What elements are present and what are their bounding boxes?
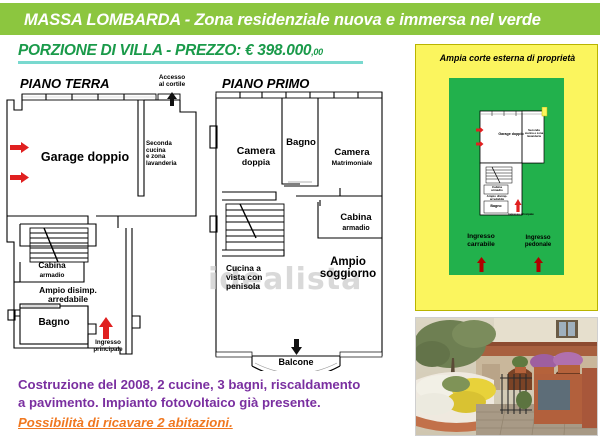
- room-label-cucina-penisola: Cucina a vista con penisola: [226, 264, 286, 291]
- courtyard-mini-plan: Garage doppio Seconda cucina e zona lava…: [478, 107, 570, 217]
- price-underline: [18, 61, 363, 64]
- footer-description: Costruzione del 2008, 2 cucine, 3 bagni,…: [18, 376, 408, 411]
- room-label-ampio-soggiorno: Ampio soggiorno: [312, 256, 384, 281]
- mini-arrow-ingresso-icon: [514, 199, 522, 213]
- courtyard-entry-carrabile: Ingresso carrabile: [454, 233, 508, 248]
- footer-line-1: Costruzione del 2008, 2 cucine, 3 bagni,…: [18, 377, 360, 392]
- arrow-down-balcone-icon: [290, 338, 303, 356]
- header-banner: MASSA LOMBARDA - Zona residenziale nuova…: [0, 3, 600, 35]
- footer-highlight: Possibilità di ricavare 2 abitazioni.: [18, 415, 408, 431]
- mini-label-ingresso: Ingresso principale: [508, 213, 534, 216]
- annotation-balcone: Balcone: [268, 358, 324, 368]
- plan-title-first: PIANO PRIMO: [222, 76, 309, 91]
- plan-title-ground: PIANO TERRA: [20, 76, 110, 91]
- room-label-cabina-armadio-pt: Cabina armadio: [26, 262, 78, 280]
- courtyard-panel: Ampia corte esterna di proprietà: [415, 44, 598, 311]
- mini-label-disimp: Ampio disimp. arredabile: [484, 195, 510, 202]
- price-cents: ,00: [311, 47, 323, 57]
- room-label-bagno-pp: Bagno: [284, 138, 318, 148]
- listing-flyer: MASSA LOMBARDA - Zona residenziale nuova…: [0, 0, 600, 439]
- footer-line-2: a pavimento. Impianto fotovoltaico già p…: [18, 395, 321, 410]
- mini-arrow-side-2-icon: [476, 141, 484, 147]
- banner-text: MASSA LOMBARDA - Zona residenziale nuova…: [24, 11, 541, 30]
- arrow-right-garage-1-icon: [10, 141, 30, 154]
- price-line: PORZIONE DI VILLA - PREZZO: € 398.000,00: [18, 42, 323, 60]
- annotation-ingresso-principale: Ingresso principale: [84, 340, 132, 353]
- arrow-right-garage-2-icon: [10, 171, 30, 184]
- mini-label-cabina: Cabina armadio: [486, 186, 508, 193]
- arrow-up-carrabile-icon: [476, 257, 487, 273]
- room-label-camera-doppia: Camera doppia: [228, 146, 284, 169]
- room-label-cabina-armadio-pp: Cabina armadio: [330, 212, 382, 233]
- photo-illustration: [416, 318, 597, 435]
- arrow-up-ingresso-icon: [98, 316, 114, 340]
- mini-label-seconda: Seconda cucina e zona lavanderia: [524, 129, 544, 138]
- floorplan-panel: idealista PIANO TERRA PIANO PRIMO Garage…: [0, 66, 412, 371]
- room-label-seconda-cucina: Seconda cucina e zona lavanderia: [146, 141, 192, 168]
- courtyard-title: Ampia corte esterna di proprietà: [422, 53, 593, 63]
- property-photo: [415, 317, 598, 436]
- annotation-accesso-cortile: Accesso al cortile: [150, 75, 194, 89]
- courtyard-entry-pedonale: Ingresso pedonale: [512, 235, 564, 249]
- mini-arrow-side-1-icon: [476, 127, 484, 133]
- room-label-bagno-pt: Bagno: [26, 318, 82, 329]
- room-label-camera-matrimoniale: Camera Matrimoniale: [324, 148, 380, 169]
- arrow-up-accesso-icon: [166, 91, 178, 107]
- price-label: PORZIONE DI VILLA - PREZZO: € 398.000: [18, 42, 311, 59]
- mini-label-bagno: Bagno: [486, 205, 506, 209]
- arrow-up-pedonale-icon: [533, 257, 544, 273]
- room-label-garage: Garage doppio: [40, 151, 130, 165]
- room-label-disimpegno: Ampio disimp. arredabile: [26, 286, 110, 304]
